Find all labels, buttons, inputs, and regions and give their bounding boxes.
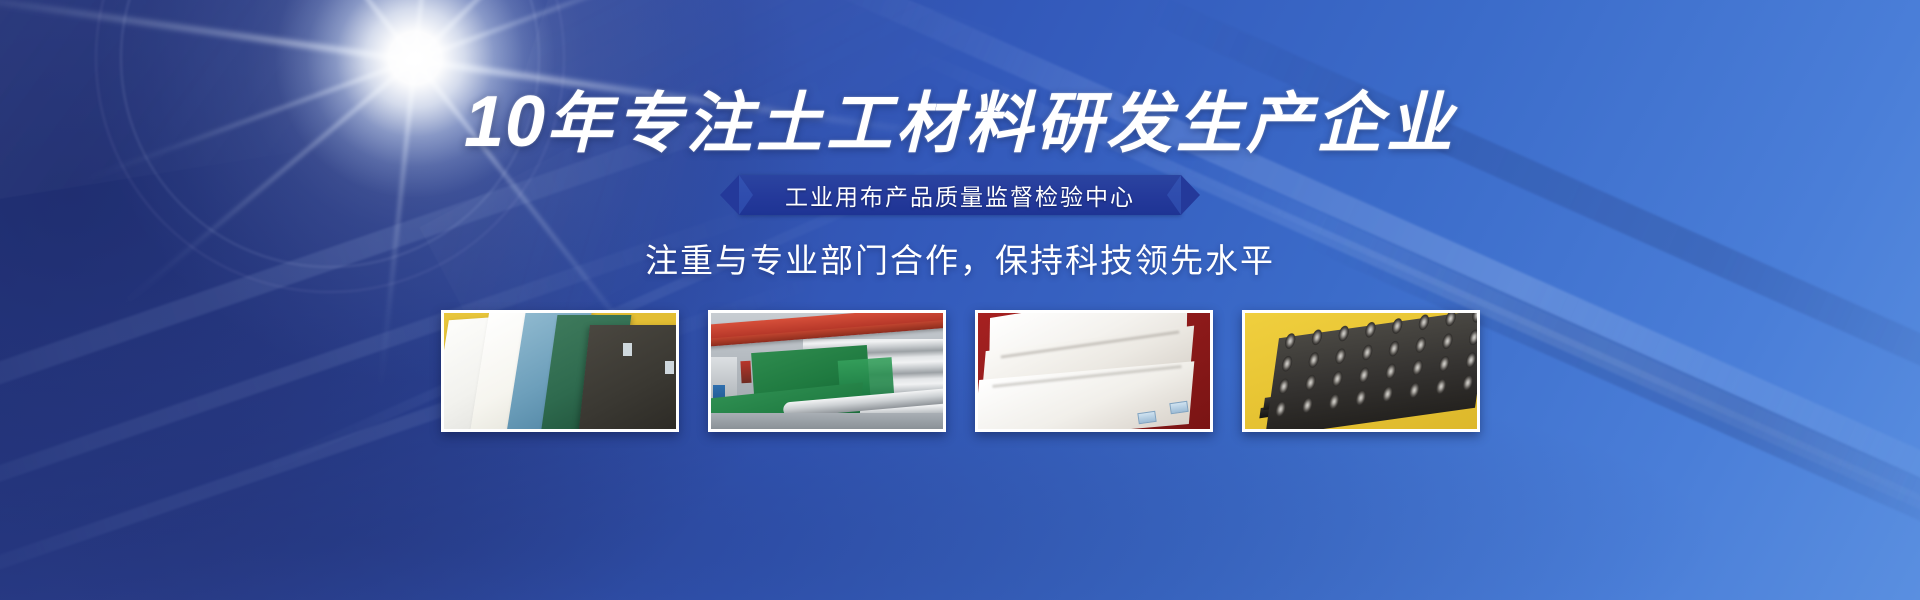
sheet-tag-1 xyxy=(623,343,632,356)
certification-ribbon: 工业用布产品质量监督检验中心 xyxy=(739,175,1181,215)
product-photo-drainage-board[interactable] xyxy=(1242,310,1480,432)
years-number: 10 xyxy=(464,82,546,162)
ribbon-container: 工业用布产品质量监督检验中心 xyxy=(0,175,1920,215)
ribbon-label: 工业用布产品质量监督检验中心 xyxy=(785,178,1135,212)
photo-image-production-line xyxy=(711,313,943,429)
subtitle: 注重与专业部门合作，保持科技领先水平 xyxy=(0,234,1920,282)
product-photo-production-line[interactable] xyxy=(708,310,946,432)
photo-image-nonwoven-geotextile xyxy=(978,313,1210,429)
product-photo-nonwoven-geotextile[interactable] xyxy=(975,310,1213,432)
banner-content: 10年专注土工材料研发生产企业 工业用布产品质量监督检验中心 注重与专业部门合作… xyxy=(0,0,1920,600)
sheet-tag-2 xyxy=(665,361,674,374)
factory-floor xyxy=(711,413,943,429)
hero-banner: 10年专注土工材料研发生产企业 工业用布产品质量监督检验中心 注重与专业部门合作… xyxy=(0,0,1920,600)
sheet-black xyxy=(578,325,676,429)
page-title: 10年专注土工材料研发生产企业 xyxy=(0,86,1920,158)
photo-image-geomembrane-sheets xyxy=(444,313,676,429)
product-photo-strip xyxy=(0,310,1920,432)
product-photo-geomembrane-sheets[interactable] xyxy=(441,310,679,432)
ribbon-notch-right-icon xyxy=(1167,175,1181,215)
headline-text: 年专注土工材料研发生产企业 xyxy=(546,86,1456,160)
photo-image-drainage-board xyxy=(1245,313,1477,429)
worker-figure xyxy=(740,361,751,383)
ribbon-notch-left-icon xyxy=(739,175,753,215)
